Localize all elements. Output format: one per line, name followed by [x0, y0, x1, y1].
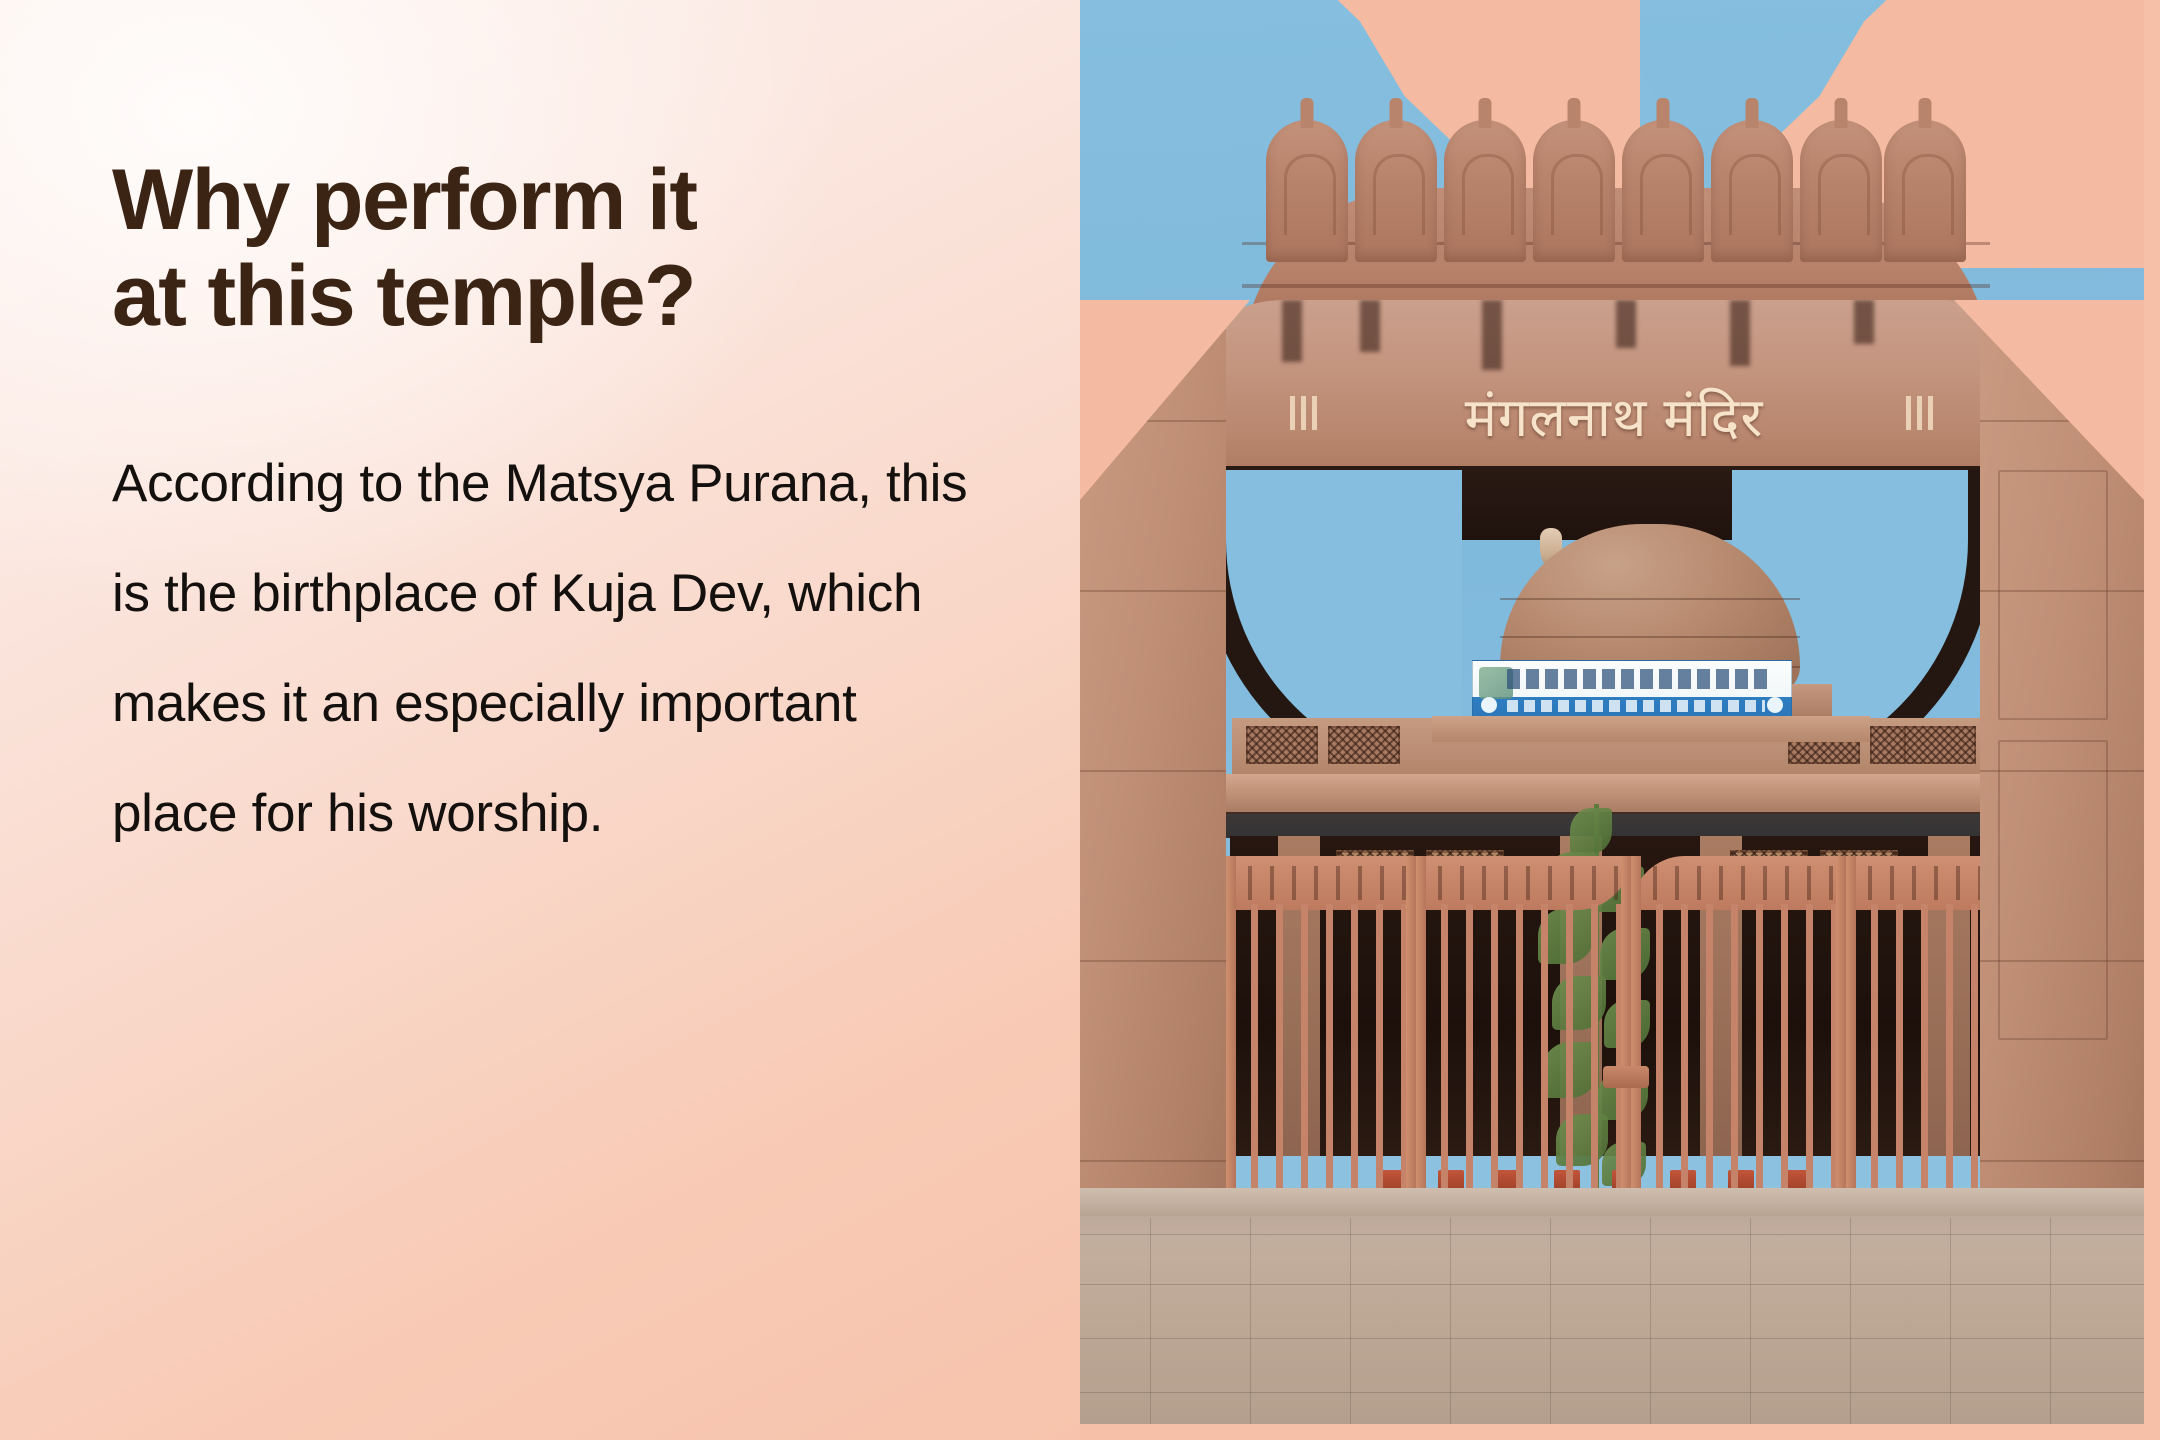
image-panel: मंगलनाथ मंदिर	[1080, 0, 2160, 1440]
temple-inscription: मंगलनाथ मंदिर	[1164, 378, 2064, 452]
jali-panel	[1246, 726, 1318, 764]
merlon	[1884, 120, 1966, 262]
photo-edge-right	[2144, 0, 2160, 1440]
banner-subtext	[1507, 700, 1765, 712]
text-panel: Why perform it at this temple? According…	[0, 0, 1080, 1440]
slide-root: Why perform it at this temple? According…	[0, 0, 2160, 1440]
gate-lintel: मंगलनाथ मंदिर	[1164, 300, 2064, 488]
kerb	[1080, 1188, 2144, 1216]
jali-panel	[1904, 726, 1976, 764]
banner-logo-right	[1767, 697, 1783, 713]
merlon	[1266, 120, 1348, 262]
page-title-line-2: at this temple?	[112, 248, 968, 344]
pavement	[1080, 1188, 2144, 1424]
merlon	[1800, 120, 1882, 262]
page-title-line-1: Why perform it	[112, 152, 968, 248]
photo-edge-bottom	[1080, 1424, 2160, 1440]
jali-panel	[1328, 726, 1400, 764]
merlon-row	[1266, 92, 1966, 262]
page-title: Why perform it at this temple?	[112, 152, 968, 345]
mandapa-roof	[1432, 716, 1870, 742]
banner-logo-left	[1481, 697, 1497, 713]
merlon	[1533, 120, 1615, 262]
body-paragraph: According to the Matsya Purana, this is …	[112, 429, 968, 870]
banner-headline-text	[1507, 669, 1769, 689]
merlon	[1622, 120, 1704, 262]
merlon	[1444, 120, 1526, 262]
merlon	[1711, 120, 1793, 262]
gate-latch[interactable]	[1603, 1066, 1649, 1088]
temple-banner	[1472, 660, 1792, 720]
merlon	[1355, 120, 1437, 262]
temple-photo: मंगलनाथ मंदिर	[1080, 0, 2144, 1424]
